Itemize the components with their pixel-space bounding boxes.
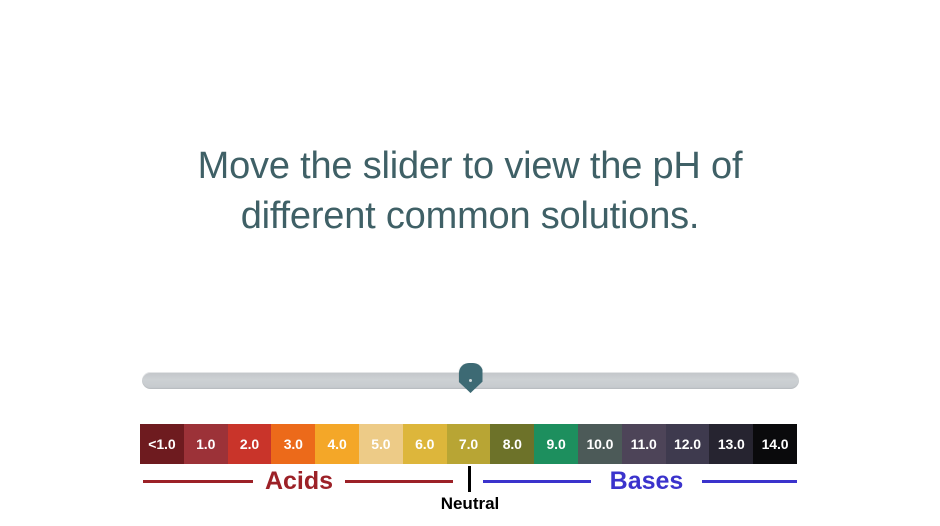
ph-band-label: 3.0 xyxy=(284,436,303,452)
acids-label: Acids xyxy=(253,464,345,498)
ph-band-60: 6.0 xyxy=(403,424,447,464)
acids-rule-left xyxy=(143,480,253,483)
ph-band-40: 4.0 xyxy=(315,424,359,464)
page-title: Move the slider to view the pH of differ… xyxy=(190,141,750,241)
ph-band-label: 12.0 xyxy=(674,436,701,452)
ph-band-110: 11.0 xyxy=(622,424,666,464)
ph-band-label: 9.0 xyxy=(546,436,565,452)
neutral-label: Neutral xyxy=(414,494,526,514)
ph-band-50: 5.0 xyxy=(359,424,403,464)
ph-band-label: 14.0 xyxy=(762,436,789,452)
ph-band-label: 4.0 xyxy=(328,436,347,452)
neutral-tick-icon xyxy=(468,466,471,492)
bases-rule-right xyxy=(702,480,797,483)
slider-handle-pin xyxy=(459,363,483,393)
bases-label: Bases xyxy=(591,464,702,498)
ph-band-label: 10.0 xyxy=(586,436,613,452)
ph-band-80: 8.0 xyxy=(490,424,534,464)
ph-color-scale: <1.01.02.03.04.05.06.07.08.09.010.011.01… xyxy=(140,424,797,464)
ph-legend: Acids Neutral Bases xyxy=(140,464,800,524)
ph-band-130: 13.0 xyxy=(709,424,753,464)
bases-rule-left xyxy=(483,480,591,483)
ph-band-120: 12.0 xyxy=(666,424,710,464)
ph-slider[interactable] xyxy=(142,372,799,390)
ph-band-10: 1.0 xyxy=(184,424,228,464)
ph-band-30: 3.0 xyxy=(271,424,315,464)
ph-band-label: 6.0 xyxy=(415,436,434,452)
ph-band-label: <1.0 xyxy=(148,436,175,452)
ph-band-20: 2.0 xyxy=(228,424,272,464)
ph-band-label: 8.0 xyxy=(503,436,522,452)
acids-rule-right xyxy=(345,480,453,483)
ph-band-label: 5.0 xyxy=(371,436,390,452)
ph-band-100: 10.0 xyxy=(578,424,622,464)
ph-band-label: 2.0 xyxy=(240,436,259,452)
ph-band-label: 7.0 xyxy=(459,436,478,452)
slider-handle-dot xyxy=(469,379,472,382)
ph-band-10: <1.0 xyxy=(140,424,184,464)
ph-band-90: 9.0 xyxy=(534,424,578,464)
ph-band-140: 14.0 xyxy=(753,424,797,464)
ph-band-label: 11.0 xyxy=(631,436,657,452)
ph-band-label: 13.0 xyxy=(718,436,745,452)
ph-band-70: 7.0 xyxy=(447,424,491,464)
slider-handle[interactable] xyxy=(459,363,483,393)
ph-band-label: 1.0 xyxy=(196,436,215,452)
